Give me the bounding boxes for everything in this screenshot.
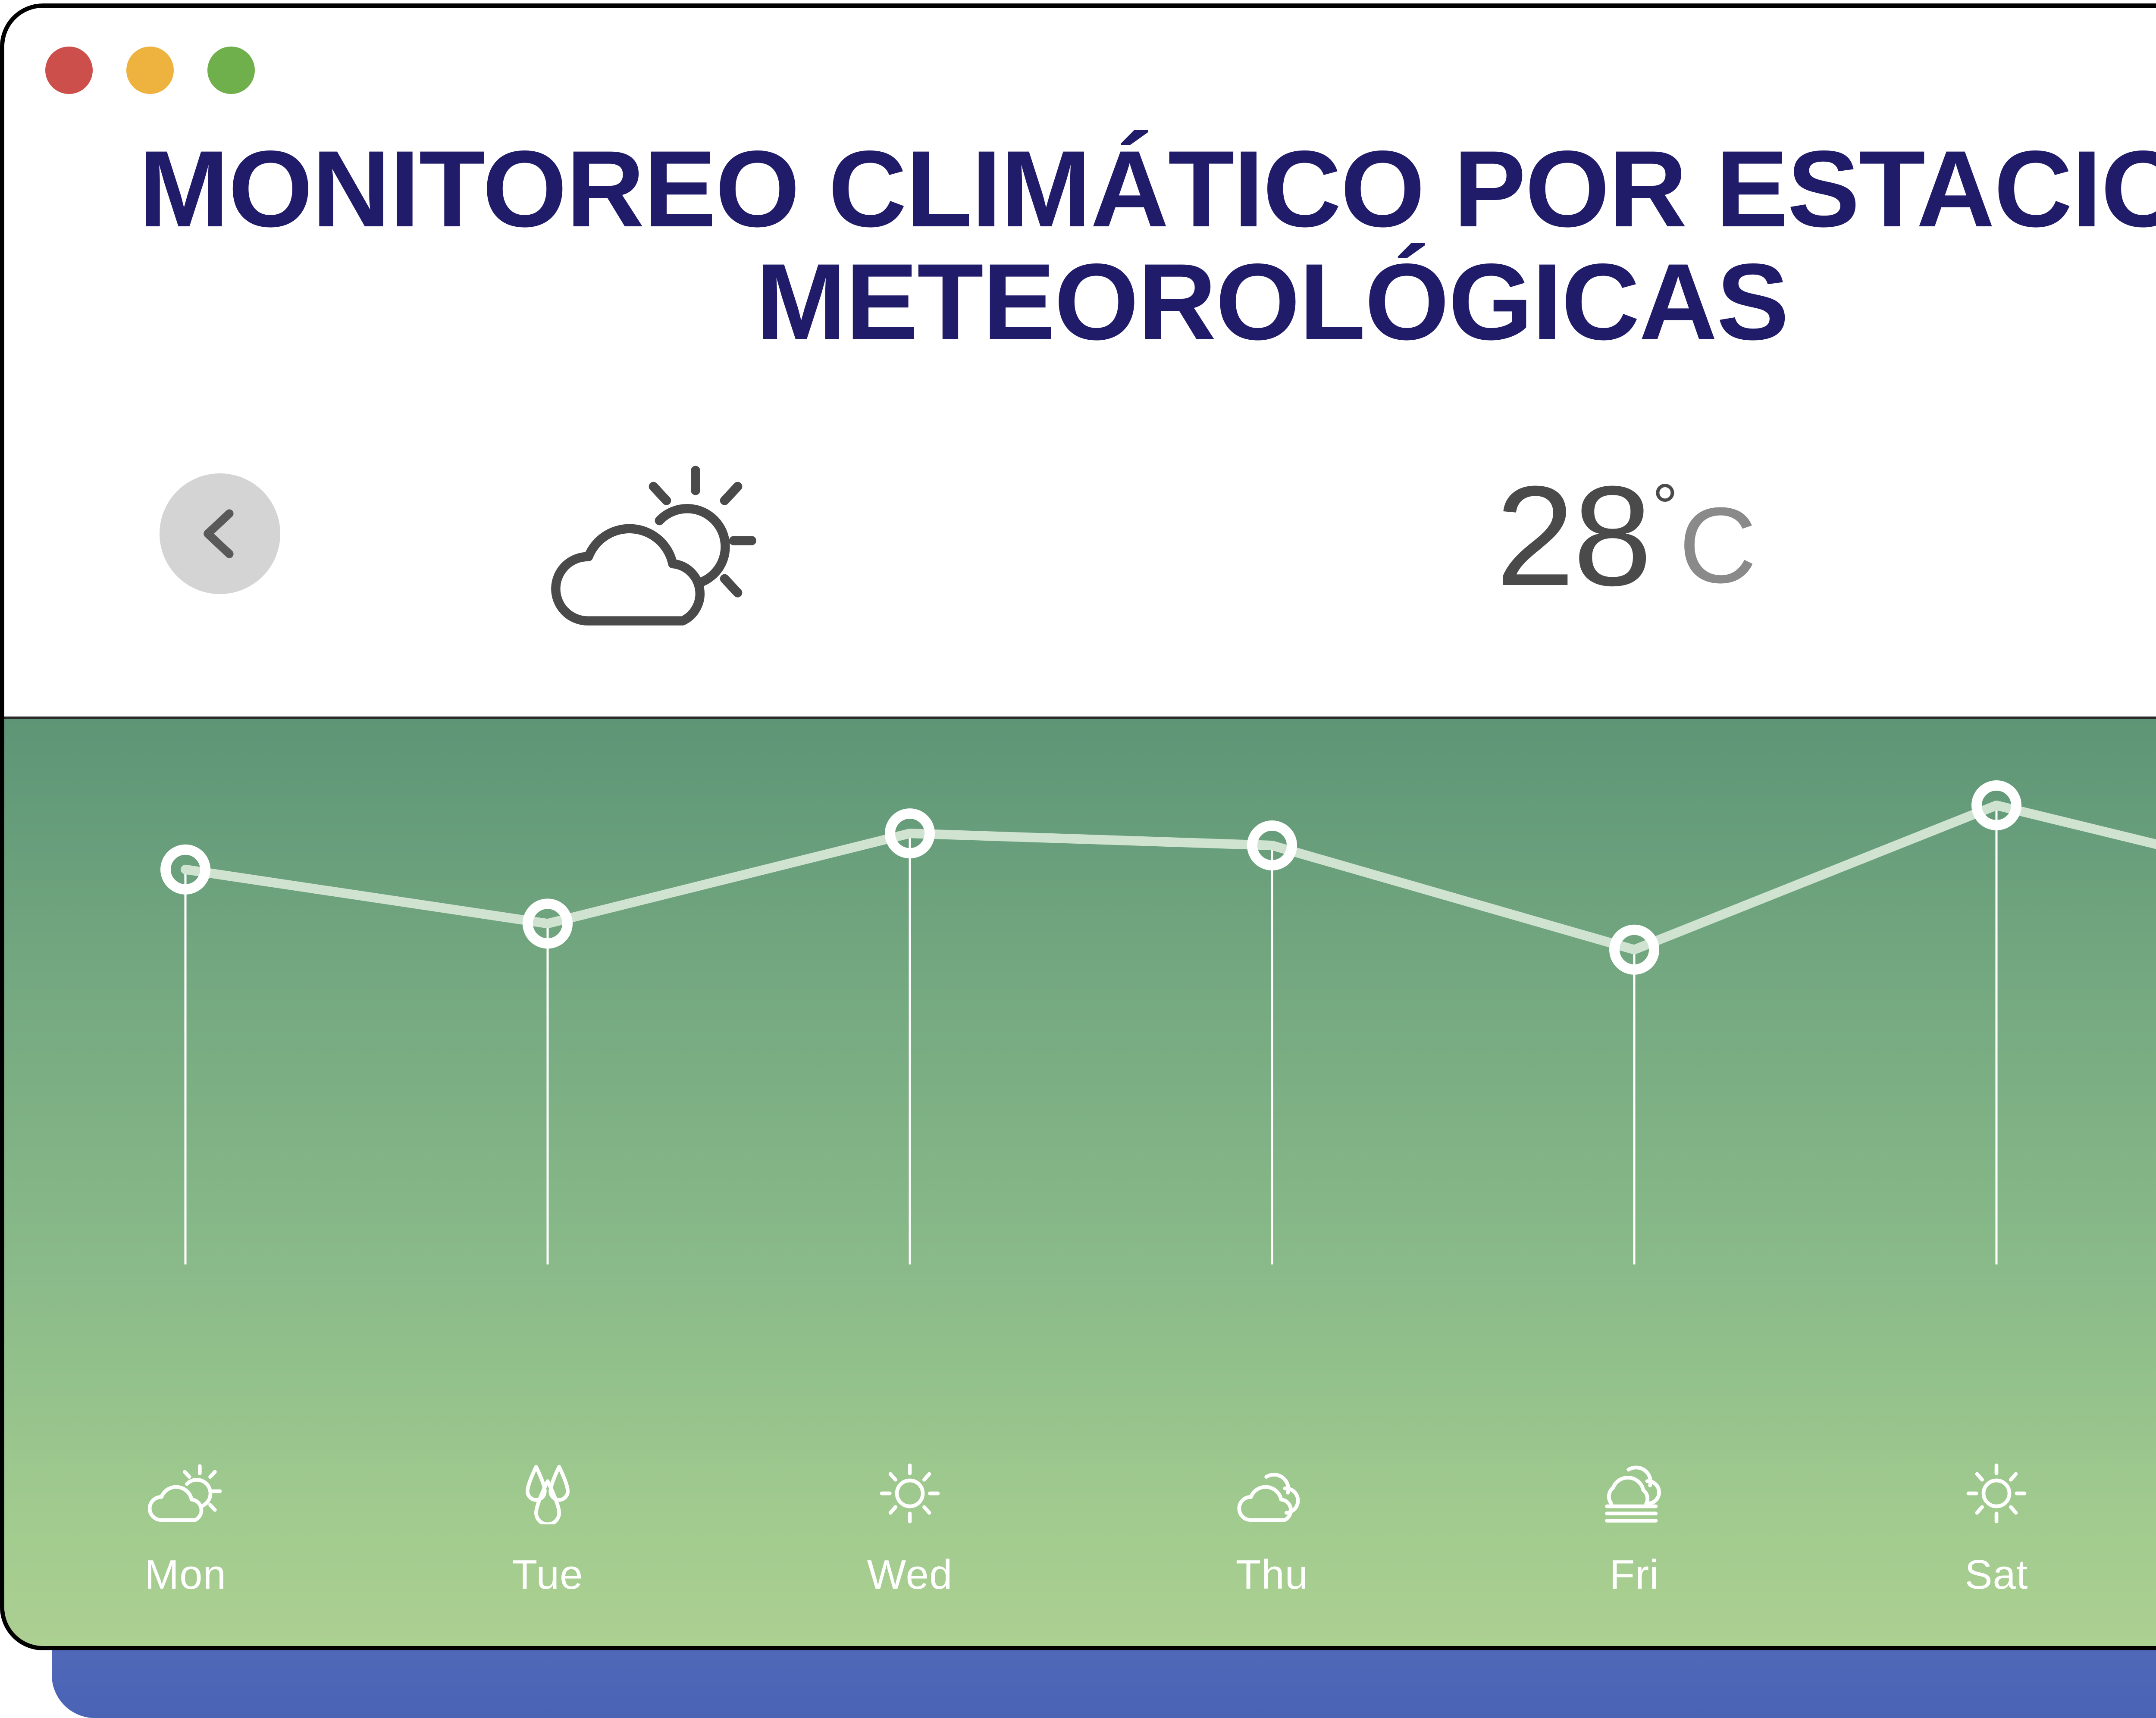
forecast-day-mon[interactable]: Mon: [4, 1418, 367, 1599]
fog-icon: [1591, 1450, 1677, 1536]
forecast-day-sat[interactable]: Sat: [1815, 1418, 2156, 1599]
maximize-button[interactable]: [207, 47, 255, 94]
temperature-value: 28: [1495, 465, 1650, 607]
day-label: Tue: [512, 1551, 583, 1599]
forecast-day-row: MonTueWedThuFriSatSu: [4, 1418, 2156, 1599]
rain-drops-icon: [505, 1450, 591, 1536]
window-header: MONITOREO CLIMÁTICO POR ESTACIONES METEO…: [4, 8, 2156, 719]
chart-marker-group: [166, 785, 2156, 970]
partly-cloudy-icon: [142, 1450, 229, 1536]
degree-symbol: °: [1652, 474, 1676, 539]
day-label: Sat: [1965, 1551, 2028, 1599]
minimize-button[interactable]: [126, 47, 174, 94]
screenshot-root: MONITOREO CLIMÁTICO POR ESTACIONES METEO…: [0, 0, 2156, 1718]
day-label: Fri: [1610, 1551, 1659, 1599]
forecast-day-wed[interactable]: Wed: [729, 1418, 1091, 1599]
sun-icon: [1953, 1450, 2040, 1536]
forecast-day-tue[interactable]: Tue: [367, 1418, 729, 1599]
app-window: MONITOREO CLIMÁTICO POR ESTACIONES METEO…: [0, 3, 2156, 1650]
day-label: Wed: [867, 1551, 953, 1599]
day-label: Thu: [1236, 1551, 1308, 1599]
chart-dropline-group: [185, 805, 2156, 1264]
close-button[interactable]: [45, 47, 93, 94]
temperature-unit: C: [1679, 491, 1755, 599]
previous-station-button[interactable]: [160, 473, 280, 594]
sun-icon: [867, 1450, 953, 1536]
current-conditions-bar: 28 ° C: [4, 460, 2156, 642]
chevron-left-icon: [188, 501, 252, 566]
page-title: MONITOREO CLIMÁTICO POR ESTACIONES METEO…: [4, 133, 2156, 359]
forecast-day-fri[interactable]: Fri: [1453, 1418, 1815, 1599]
forecast-day-thu[interactable]: Thu: [1091, 1418, 1453, 1599]
chart-line-path: [185, 805, 2156, 950]
traffic-light-controls: [45, 47, 255, 94]
partly-cloudy-icon: [535, 460, 776, 633]
cloud-icon: [1229, 1450, 1315, 1536]
weekly-temperature-chart: MonTueWedThuFriSatSu: [4, 719, 2156, 1650]
day-label: Mon: [144, 1551, 226, 1599]
temperature-readout: 28 ° C: [1495, 465, 1755, 607]
